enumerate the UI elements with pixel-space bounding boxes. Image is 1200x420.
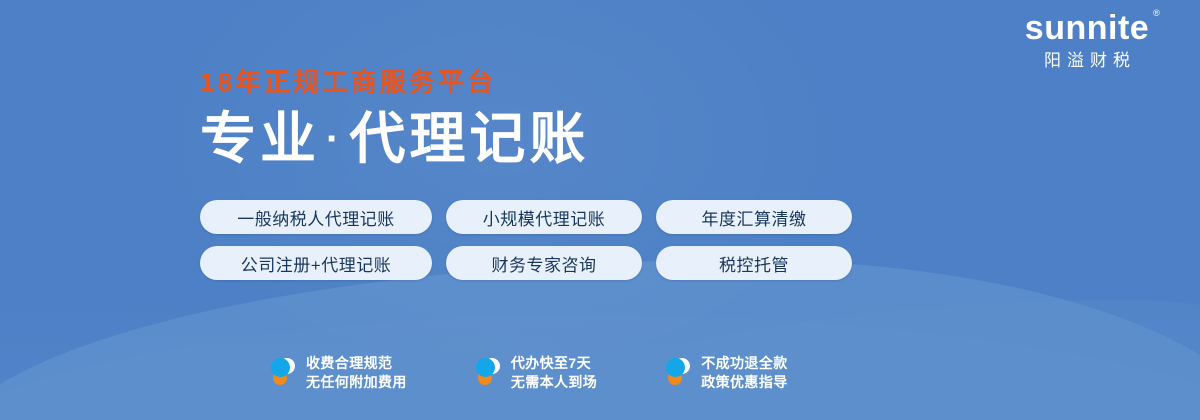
feature-line-2: 无任何附加费用 (306, 373, 407, 392)
feature-line-1: 代办快至7天 (511, 354, 597, 373)
two-tone-circle-icon (475, 357, 501, 389)
hero-text-block: 18年正规工商服务平台 专业·代理记账 (200, 66, 589, 172)
brand-logo[interactable]: sunnite ® 阳溢财税 (992, 8, 1182, 72)
feature-strip: 收费合理规范 无任何附加费用 代办快至7天 无需本人到场 不成功退全款 (270, 354, 788, 392)
service-pill-company-registration[interactable]: 公司注册+代理记账 (200, 246, 432, 280)
feature-text-guarantee: 不成功退全款 政策优惠指导 (701, 354, 787, 392)
feature-item-guarantee: 不成功退全款 政策优惠指导 (665, 354, 787, 392)
headline-right: 代理记账 (349, 107, 589, 170)
logo-wordmark-text: sunnite (1025, 9, 1149, 47)
service-pill-tax-control-custody[interactable]: 税控托管 (656, 246, 852, 280)
feature-line-2: 无需本人到场 (511, 373, 597, 392)
hero-headline: 专业·代理记账 (200, 106, 589, 172)
feature-line-1: 收费合理规范 (306, 354, 407, 373)
promo-banner: sunnite ® 阳溢财税 18年正规工商服务平台 专业·代理记账 一般纳税人… (0, 0, 1200, 420)
service-pill-row-1: 一般纳税人代理记账 小规模代理记账 年度汇算清缴 (200, 200, 852, 234)
service-pill-group: 一般纳税人代理记账 小规模代理记账 年度汇算清缴 公司注册+代理记账 财务专家咨… (200, 200, 852, 292)
circle-cyan-part (666, 358, 685, 377)
feature-line-1: 不成功退全款 (701, 354, 787, 373)
feature-item-speed: 代办快至7天 无需本人到场 (475, 354, 597, 392)
hero-eyebrow: 18年正规工商服务平台 (200, 66, 589, 98)
service-pill-general-taxpayer[interactable]: 一般纳税人代理记账 (200, 200, 432, 234)
two-tone-circle-icon (665, 357, 691, 389)
service-pill-row-2: 公司注册+代理记账 财务专家咨询 税控托管 (200, 246, 852, 280)
feature-text-pricing: 收费合理规范 无任何附加费用 (306, 354, 407, 392)
two-tone-circle-icon (270, 357, 296, 389)
headline-left: 专业 (200, 107, 320, 170)
logo-chinese-name: 阳溢财税 (992, 50, 1182, 72)
headline-separator-dot: · (320, 117, 349, 161)
registered-trademark-icon: ® (1153, 9, 1160, 18)
service-pill-financial-consulting[interactable]: 财务专家咨询 (446, 246, 642, 280)
logo-wordmark: sunnite ® (1025, 8, 1149, 48)
service-pill-annual-settlement[interactable]: 年度汇算清缴 (656, 200, 852, 234)
feature-text-speed: 代办快至7天 无需本人到场 (511, 354, 597, 392)
feature-line-2: 政策优惠指导 (701, 373, 787, 392)
circle-cyan-part (476, 358, 495, 377)
service-pill-small-scale[interactable]: 小规模代理记账 (446, 200, 642, 234)
circle-cyan-part (271, 358, 290, 377)
feature-item-pricing: 收费合理规范 无任何附加费用 (270, 354, 407, 392)
